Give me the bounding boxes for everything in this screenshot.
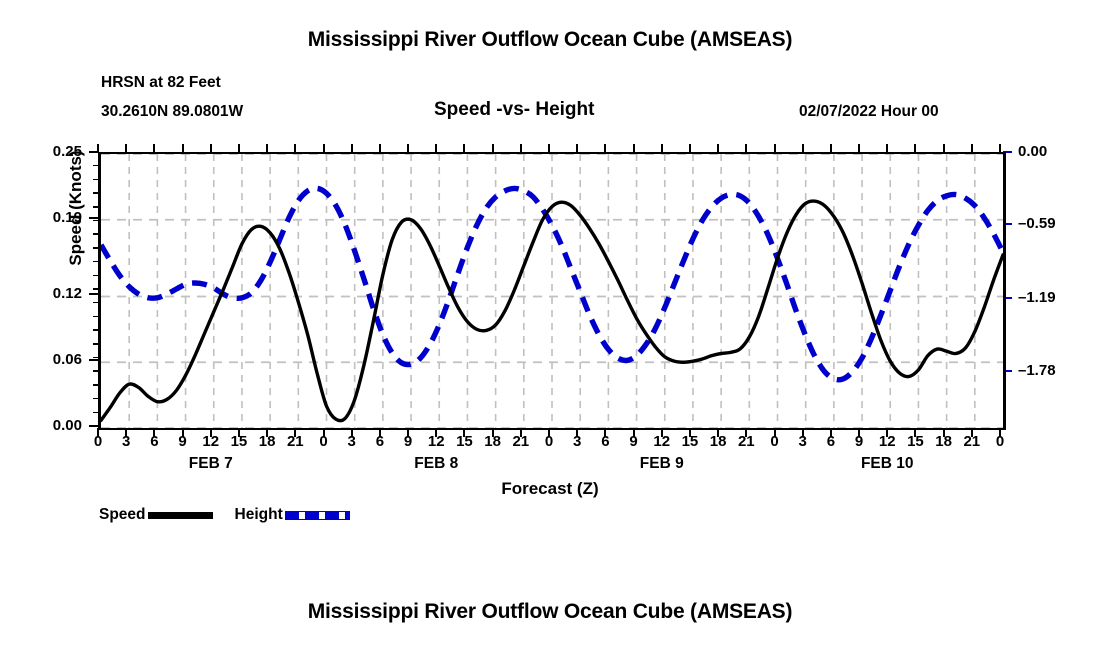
x-axis-top-tick-mark — [125, 144, 127, 152]
x-axis-top-tick-mark — [886, 144, 888, 152]
legend-entry-height: Height — [235, 506, 350, 524]
x-axis-top-tick-mark — [633, 144, 635, 152]
y-axis-right-tick-label: –0.59 — [1018, 215, 1098, 232]
x-axis-top-tick-mark — [323, 144, 325, 152]
y-axis-left-tick-label: 0.19 — [12, 209, 82, 226]
page-title-top: Mississippi River Outflow Ocean Cube (AM… — [0, 28, 1100, 52]
x-axis-top-tick-mark — [604, 144, 606, 152]
legend-swatch-speed-icon — [148, 512, 213, 519]
x-axis-top-tick-mark — [914, 144, 916, 152]
x-axis-top-tick-mark — [463, 144, 465, 152]
x-axis-top-tick-mark — [745, 144, 747, 152]
vertical-gridlines — [129, 154, 975, 428]
legend-swatch-height-icon — [285, 511, 350, 520]
y-axis-right-tick-label: –1.78 — [1018, 362, 1098, 379]
x-axis-top-tick-mark — [294, 144, 296, 152]
x-axis-top-tick-mark — [689, 144, 691, 152]
chart-plot-area — [98, 152, 1006, 430]
x-axis-day-label: FEB 10 — [827, 455, 947, 473]
x-axis-top-tick-mark — [802, 144, 804, 152]
y-axis-left-tick-mark — [89, 217, 98, 219]
legend-entry-speed: Speed — [99, 506, 213, 524]
x-axis-top-tick-mark — [97, 144, 99, 152]
station-depth-label: HRSN at 82 Feet — [101, 74, 221, 92]
x-axis-top-tick-mark — [210, 144, 212, 152]
forecast-datetime-label: 02/07/2022 Hour 00 — [799, 103, 939, 121]
y-axis-left-tick-label: 0.25 — [12, 143, 82, 160]
x-axis-day-label: FEB 7 — [151, 455, 271, 473]
y-axis-left-tick-label: 0.12 — [12, 285, 82, 302]
x-axis-top-tick-mark — [548, 144, 550, 152]
x-axis-top-tick-mark — [407, 144, 409, 152]
y-axis-left-tick-mark — [89, 425, 98, 427]
y-axis-right-tick-label: 0.00 — [1018, 143, 1098, 160]
x-axis-title: Forecast (Z) — [0, 479, 1100, 499]
y-axis-left-tick-mark — [89, 293, 98, 295]
x-axis-day-label: FEB 8 — [376, 455, 496, 473]
x-axis-top-tick-mark — [774, 144, 776, 152]
y-axis-right-tick-label: –1.19 — [1018, 289, 1098, 306]
x-axis-top-tick-mark — [999, 144, 1001, 152]
chart-canvas — [101, 154, 1003, 428]
x-axis-top-tick-mark — [858, 144, 860, 152]
x-axis-top-tick-mark — [492, 144, 494, 152]
x-axis-top-tick-mark — [238, 144, 240, 152]
x-axis-top-tick-mark — [379, 144, 381, 152]
y-axis-left-tick-label: 0.00 — [12, 417, 82, 434]
x-axis-top-tick-mark — [717, 144, 719, 152]
legend-label-height: Height — [235, 506, 283, 524]
x-axis-top-tick-mark — [153, 144, 155, 152]
x-axis-day-label: FEB 9 — [602, 455, 722, 473]
x-axis-top-tick-mark — [520, 144, 522, 152]
x-axis-top-tick-mark — [943, 144, 945, 152]
chart-legend: Speed Height — [99, 506, 350, 524]
x-axis-top-tick-mark — [182, 144, 184, 152]
x-axis-top-tick-mark — [830, 144, 832, 152]
x-axis-top-tick-mark — [661, 144, 663, 152]
y-axis-left-tick-label: 0.06 — [12, 351, 82, 368]
x-axis-top-tick-mark — [576, 144, 578, 152]
page-title-bottom: Mississippi River Outflow Ocean Cube (AM… — [0, 600, 1100, 624]
station-coordinates-label: 30.2610N 89.0801W — [101, 103, 243, 121]
y-axis-left-tick-mark — [89, 359, 98, 361]
x-axis-top-tick-mark — [351, 144, 353, 152]
x-axis-top-tick-mark — [971, 144, 973, 152]
x-axis-top-tick-mark — [435, 144, 437, 152]
chart-subtitle: Speed -vs- Height — [434, 99, 594, 121]
x-axis-top-tick-mark — [266, 144, 268, 152]
legend-label-speed: Speed — [99, 506, 146, 524]
